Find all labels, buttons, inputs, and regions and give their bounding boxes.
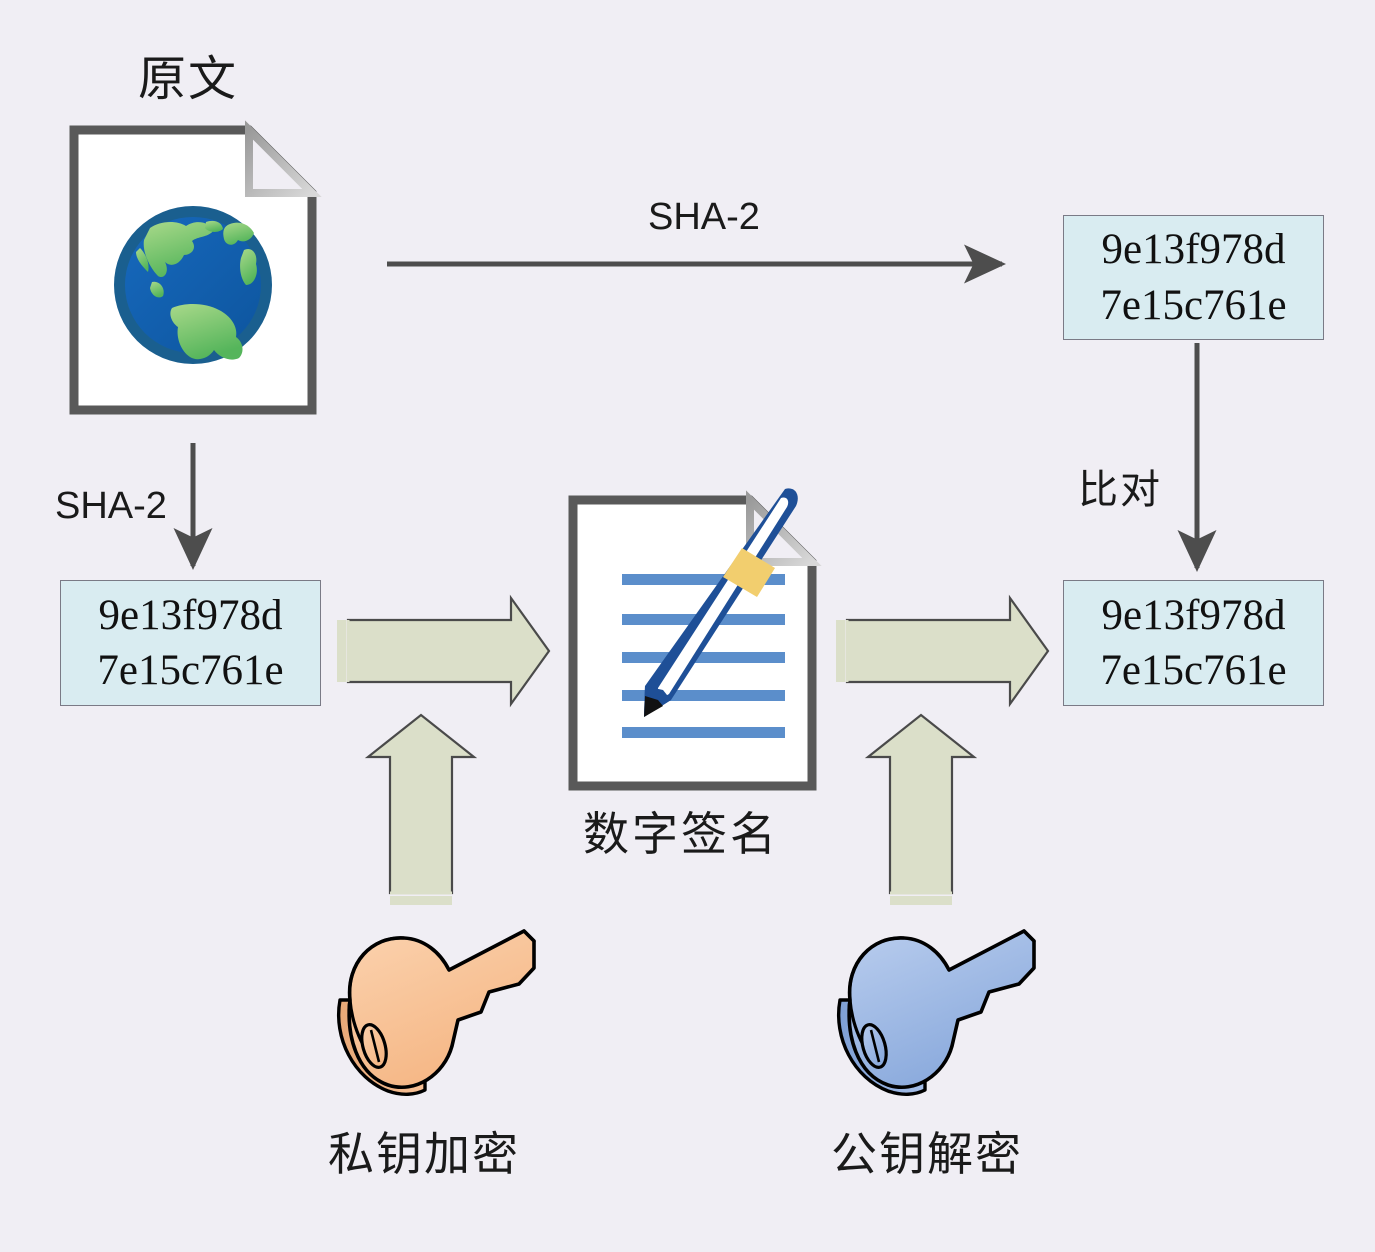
label-digital-signature: 数字签名: [583, 812, 779, 858]
digital-signature-diagram: 原文 SHA-2 SHA-2 比对 数字签名 私钥加密 公钥解密 9e13f97…: [0, 0, 1375, 1252]
globe-icon: [114, 206, 272, 364]
document-pen-icon: [573, 488, 812, 786]
block-arrow-verify: [836, 598, 1048, 704]
hash-line-2: 7e15c761e: [1100, 278, 1286, 333]
hash-line-1: 9e13f978d: [1102, 222, 1286, 277]
label-sha2-top: SHA-2: [648, 198, 760, 236]
block-arrow-private-key: [368, 715, 474, 905]
hash-line-1: 9e13f978d: [99, 588, 283, 643]
label-sha2-left: SHA-2: [55, 487, 167, 525]
label-public-key-decrypt: 公钥解密: [831, 1132, 1023, 1178]
hash-line-1: 9e13f978d: [1102, 588, 1286, 643]
hash-line-2: 7e15c761e: [1100, 643, 1286, 698]
label-compare: 比对: [1078, 470, 1162, 510]
hash-box-document-digest: 9e13f978d 7e15c761e: [1063, 215, 1324, 340]
block-arrow-sign: [337, 598, 549, 704]
hash-box-signing-digest: 9e13f978d 7e15c761e: [60, 580, 321, 706]
hash-box-decrypted-digest: 9e13f978d 7e15c761e: [1063, 580, 1324, 706]
label-private-key-encrypt: 私钥加密: [328, 1132, 520, 1178]
document-globe-icon: [74, 130, 312, 410]
page-title-original-text: 原文: [138, 56, 238, 104]
key-icon-private: [339, 931, 534, 1094]
block-arrow-public-key: [868, 715, 974, 905]
hash-line-2: 7e15c761e: [97, 643, 283, 698]
key-icon-public: [839, 931, 1034, 1094]
